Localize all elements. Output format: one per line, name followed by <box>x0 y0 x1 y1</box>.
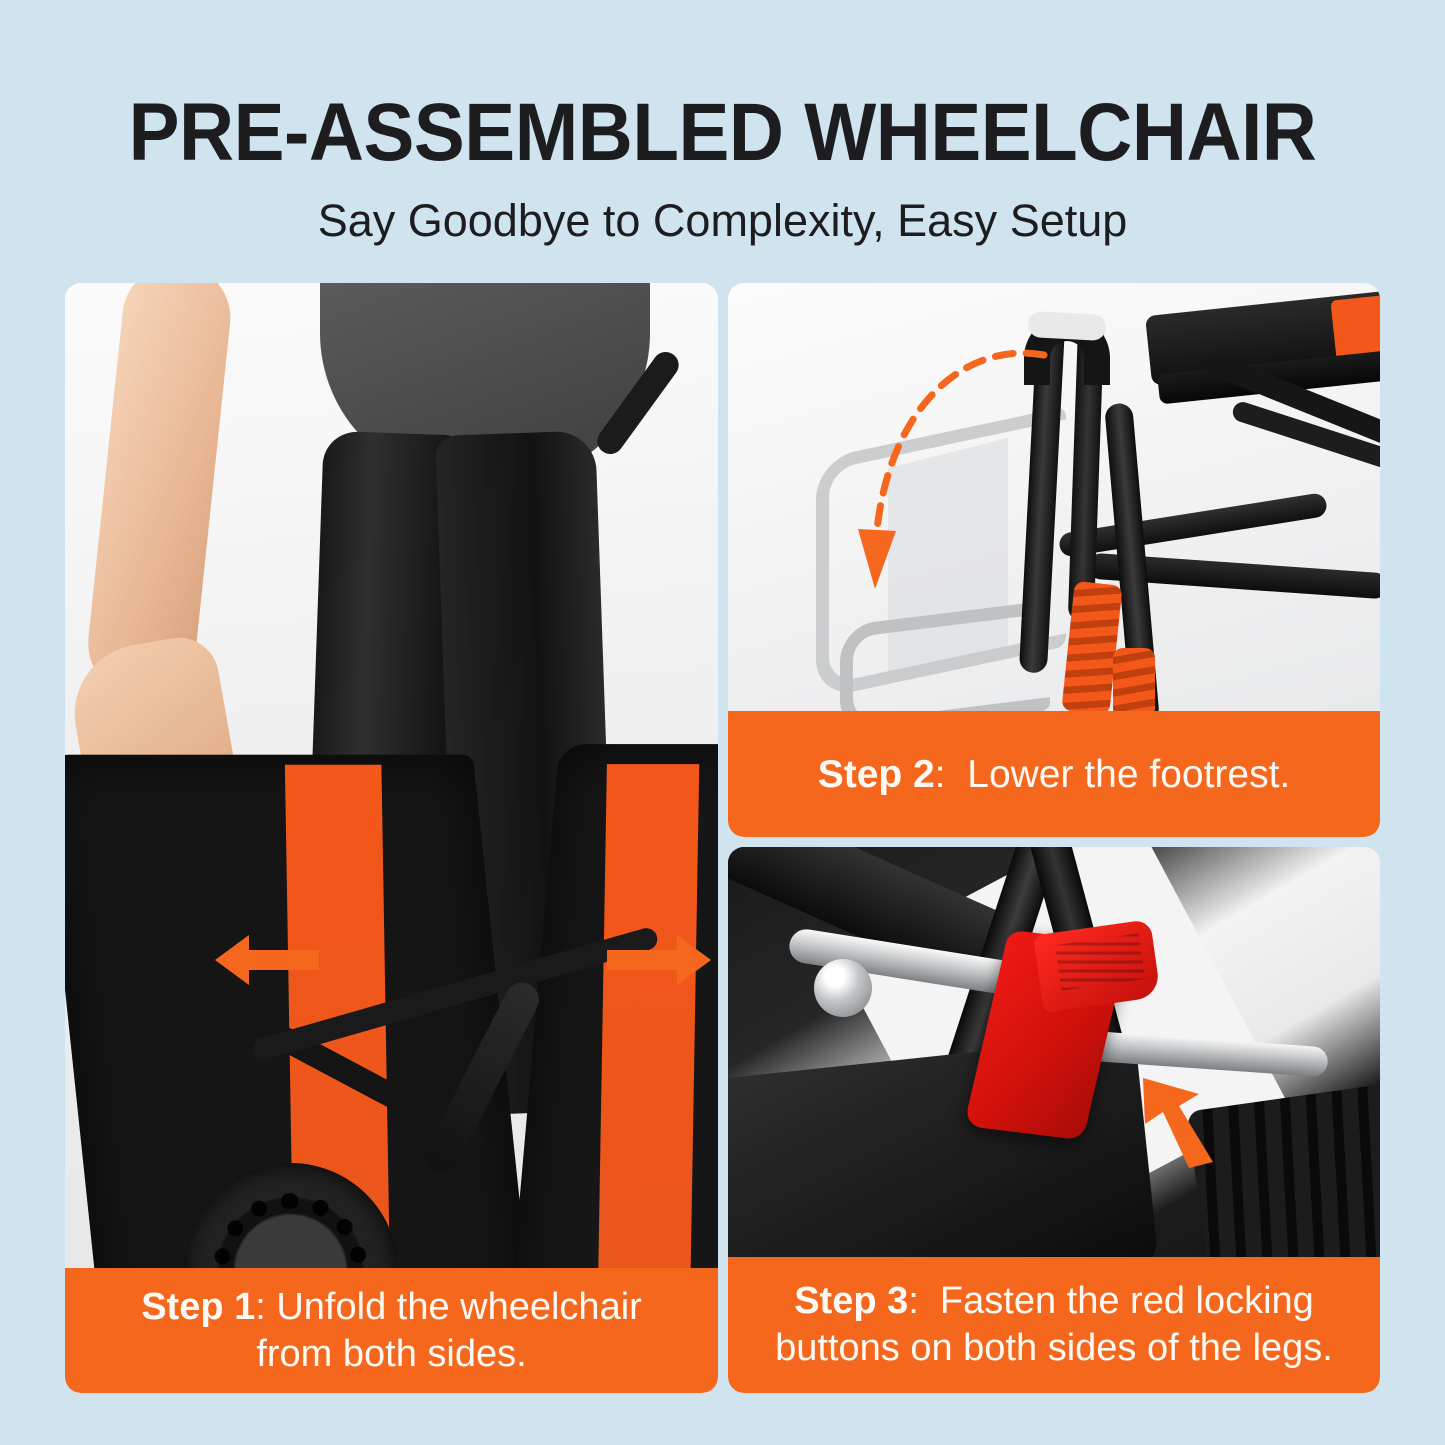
step-2-panel: Step 2: Lower the footrest. <box>728 283 1380 837</box>
step-1-panel: Step 1: Unfold the wheelchair from both … <box>65 283 718 1393</box>
step-2-caption: Step 2: Lower the footrest. <box>728 711 1380 837</box>
step-2-label: Step 2 <box>818 753 935 796</box>
step-1-caption-line-1: Unfold the wheelchair <box>276 1286 641 1328</box>
arrow-right-icon <box>605 931 713 989</box>
arrow-up-left-icon <box>1133 1072 1223 1168</box>
step-2-photo <box>728 283 1380 711</box>
step-2-separator: : <box>935 753 946 796</box>
step-panel-grid: Step 1: Unfold the wheelchair from both … <box>0 0 1445 1445</box>
arrow-left-icon <box>213 931 321 989</box>
step-3-panel: Step 3: Fasten the red locking buttons o… <box>728 847 1380 1393</box>
step-1-separator: : <box>255 1286 266 1328</box>
step-1-label: Step 1 <box>141 1286 255 1328</box>
hex-bolt-upper <box>814 959 872 1017</box>
step-2-caption-line-1: Lower the footrest. <box>967 753 1290 796</box>
step-1-caption-line-2: from both sides. <box>141 1331 642 1378</box>
orange-spring-lower <box>1113 648 1155 711</box>
step-3-caption: Step 3: Fasten the red locking buttons o… <box>728 1257 1380 1393</box>
step-3-separator: : <box>908 1280 919 1322</box>
curved-dashed-arrow-down-icon <box>848 333 1078 653</box>
step-3-caption-line-2: buttons on both sides of the legs. <box>775 1325 1333 1372</box>
step-3-caption-line-1: Fasten the red locking <box>940 1280 1314 1322</box>
step-1-caption: Step 1: Unfold the wheelchair from both … <box>65 1268 718 1393</box>
step-3-label: Step 3 <box>794 1280 908 1322</box>
step-1-photo <box>65 283 718 1268</box>
step-3-photo <box>728 847 1380 1257</box>
